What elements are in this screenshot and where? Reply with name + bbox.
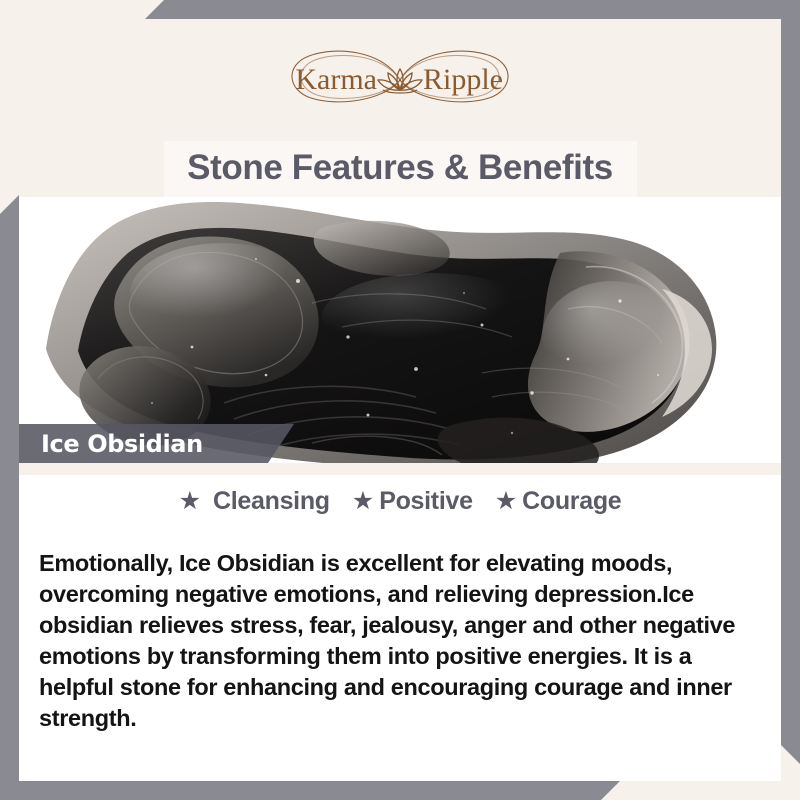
- frame-band-left: [0, 195, 19, 800]
- star-icon: ★: [495, 489, 517, 514]
- frame-band-top: [145, 0, 800, 19]
- stone-photo: Ice Obsidian: [19, 197, 781, 463]
- benefits-row: ★ Cleansing ★ Positive ★ Courage: [31, 475, 769, 518]
- benefits-panel: ★ Cleansing ★ Positive ★ Courage Emotion…: [19, 475, 781, 781]
- stone-description: Emotionally, Ice Obsidian is excellent f…: [31, 542, 769, 734]
- frame-band-bottom: [0, 781, 620, 800]
- star-icon: ★: [179, 489, 201, 514]
- title-band: Stone Features & Benefits: [164, 141, 637, 197]
- brand-logo: Karma Ripple: [19, 19, 781, 141]
- lotus-icon: [378, 69, 422, 93]
- benefit-item-courage: ★ Courage: [495, 489, 622, 514]
- benefit-item-positive: ★ Positive: [352, 489, 473, 514]
- content-card: Karma Ripple Stone Features & Benefits: [19, 19, 781, 781]
- ice-obsidian-illustration: [19, 197, 781, 463]
- benefit-label-positive: Positive: [379, 489, 472, 514]
- benefit-item-cleansing: ★ Cleansing: [179, 489, 330, 514]
- stone-name-label: Ice Obsidian: [19, 432, 203, 456]
- karma-ripple-logo-icon: Karma Ripple: [265, 42, 535, 118]
- brand-name-left: Karma: [295, 63, 377, 96]
- photo-divider-strip: [19, 463, 781, 475]
- brand-name-right: Ripple: [423, 63, 503, 96]
- page-title: Stone Features & Benefits: [164, 150, 637, 185]
- benefit-label-courage: Courage: [522, 489, 621, 514]
- stone-name-banner: Ice Obsidian: [19, 424, 294, 463]
- frame-band-right: [781, 0, 800, 764]
- star-icon: ★: [352, 489, 374, 514]
- infographic-canvas: Karma Ripple Stone Features & Benefits: [0, 0, 800, 800]
- benefit-label-cleansing: Cleansing: [213, 489, 330, 514]
